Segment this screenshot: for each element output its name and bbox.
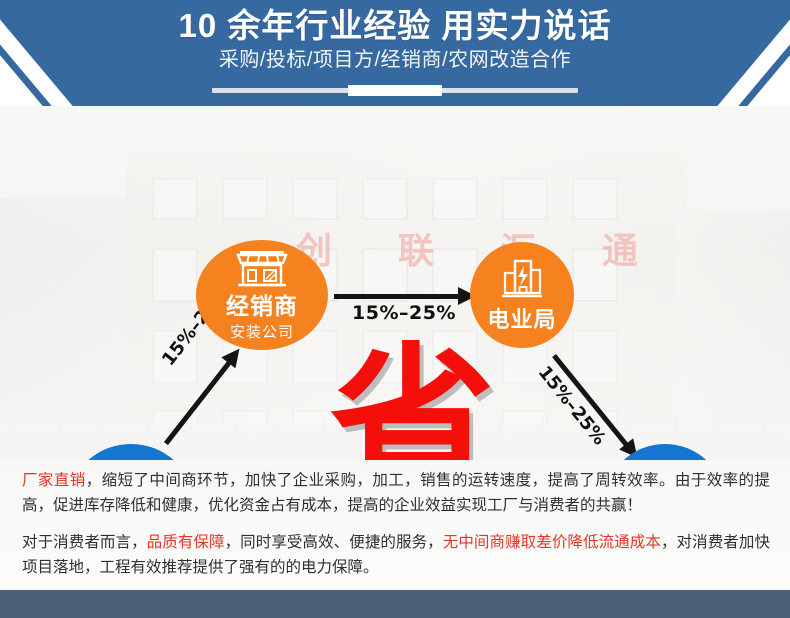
promo-page: 10 余年行业经验 用实力说话 采购/投标/项目方/经销商/农网改造合作 [0, 0, 790, 618]
big-savings-character: 省 [330, 342, 495, 460]
arrow-shaft [334, 294, 460, 299]
highlight-factory-direct: 厂家直销 [22, 472, 86, 489]
footer-bar [0, 590, 790, 618]
header-title: 10 余年行业经验 用实力说话 [178, 6, 611, 46]
description-paragraph-2-lead: 对于消费者而言， [22, 534, 147, 551]
node-dealer[interactable]: 经销商 安装公司 [196, 240, 328, 350]
header-rule-center-cap [348, 85, 442, 96]
node-dealer-label: 经销商 [226, 294, 298, 318]
description-paragraph-1: 厂家直销，缩短了中间商环节，加快了企业采购，加工，销售的运转速度，提高了周转效率… [22, 468, 770, 518]
description-paragraph-2-mid: ，同时享受高效、便捷的服务， [225, 534, 443, 551]
highlight-no-middleman: 无中间商赚取差价降低流通成本 [443, 534, 661, 551]
node-power-bureau[interactable]: 电业局 [470, 242, 574, 348]
description-paragraph-1-rest: ，缩短了中间商环节，加快了企业采购，加工，销售的运转速度，提高了周转效率。由于效… [22, 472, 770, 514]
description-block: 厂家直销，缩短了中间商环节，加快了企业采购，加工，销售的运转速度，提高了周转效率… [0, 460, 790, 590]
description-paragraph-2: 对于消费者而言，品质有保障，同时享受高效、便捷的服务，无中间商赚取差价降低流通成… [22, 530, 770, 580]
header-subtitle: 采购/投标/项目方/经销商/农网改造合作 [219, 47, 571, 73]
diagram-stage: 创 联 汇 通 省 15%–25% 15%–25% 15%–25% 在这里省了中… [0, 106, 790, 460]
storefront-icon [236, 248, 288, 293]
power-building-icon [499, 258, 545, 305]
node-power-bureau-label: 电业局 [487, 308, 556, 331]
arrow-label-dealer-to-bureau: 15%–25% [352, 302, 456, 324]
page-header: 10 余年行业经验 用实力说话 采购/投标/项目方/经销商/农网改造合作 [0, 0, 790, 106]
highlight-quality-guarantee: 品质有保障 [147, 534, 225, 551]
node-dealer-sublabel: 安装公司 [230, 321, 294, 342]
